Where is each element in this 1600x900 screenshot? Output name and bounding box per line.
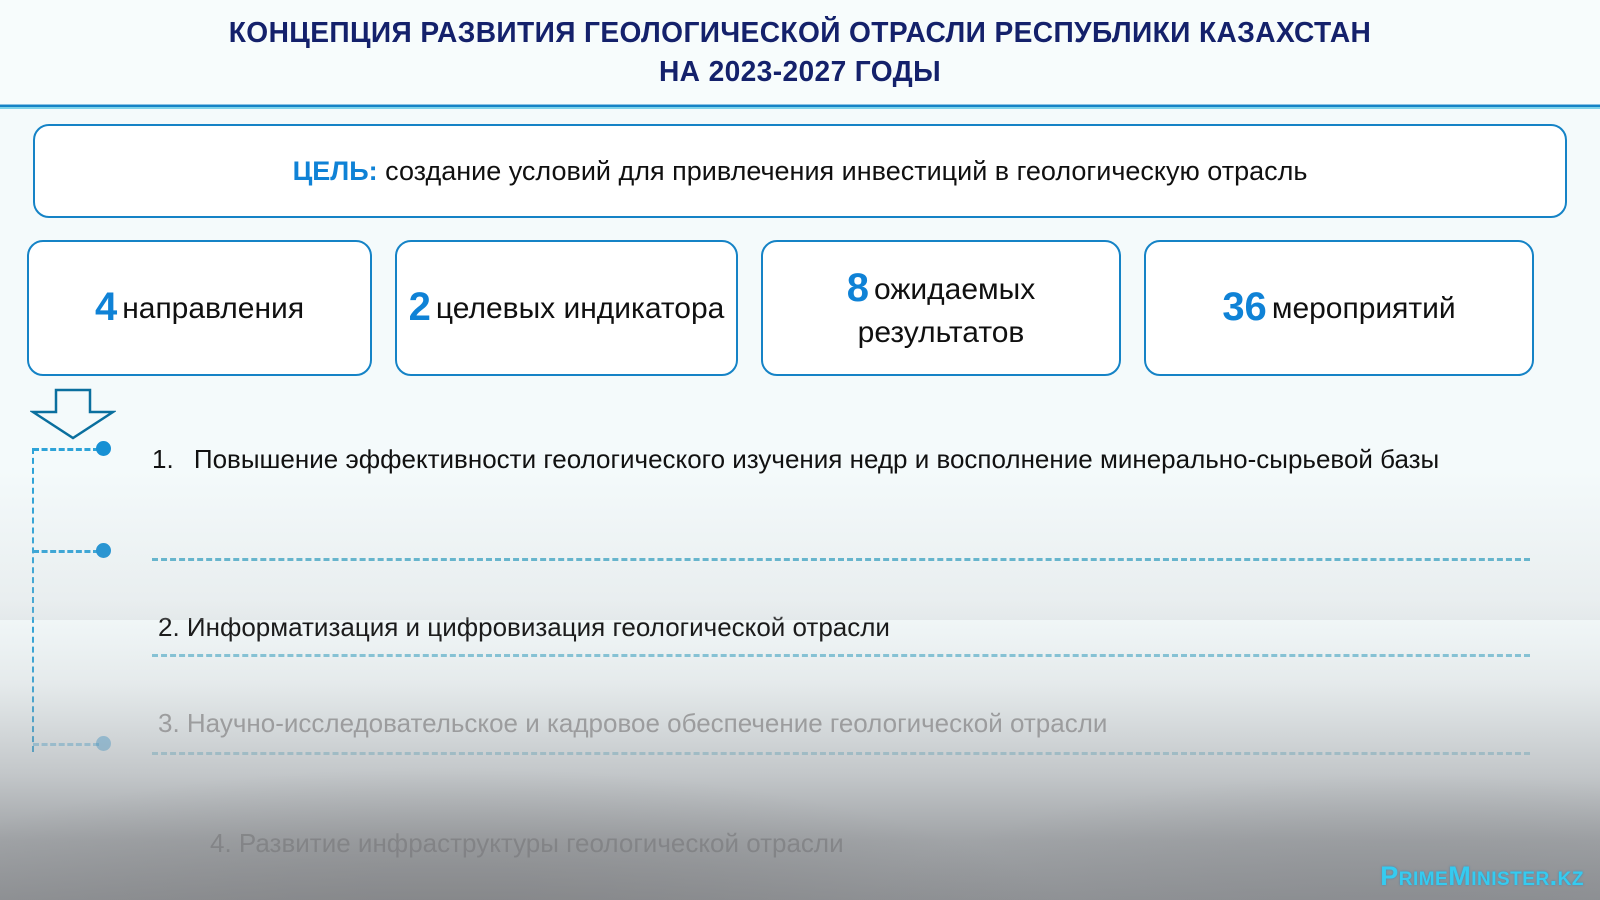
stat-card-indicators-number: 2 bbox=[409, 285, 431, 329]
arrow-down-icon bbox=[30, 388, 116, 440]
goal-label: ЦЕЛЬ: bbox=[293, 156, 378, 186]
slide-root: КОНЦЕПЦИЯ РАЗВИТИЯ ГЕОЛОГИЧЕСКОЙ ОТРАСЛИ… bbox=[0, 0, 1600, 900]
stat-card-results-number: 8 bbox=[847, 266, 869, 310]
header-divider bbox=[0, 104, 1600, 109]
stat-card-results[interactable]: 8ожидаемых результатов bbox=[761, 240, 1121, 376]
stat-card-indicators-content: 2целевых индикатора bbox=[409, 282, 725, 333]
timeline-dot-2 bbox=[96, 543, 111, 558]
goal-box: ЦЕЛЬ: создание условий для привлечения и… bbox=[33, 124, 1567, 218]
direction-separator-2 bbox=[152, 654, 1530, 657]
direction-separator-1 bbox=[152, 558, 1530, 561]
page-title-line2: НА 2023-2027 ГОДЫ bbox=[24, 53, 1576, 92]
stat-card-measures-label: мероприятий bbox=[1272, 292, 1456, 325]
direction-item-1[interactable]: 1. Повышение эффективности геологическог… bbox=[152, 442, 1530, 477]
direction-item-3[interactable]: 3. Научно-исследовательское и кадровое о… bbox=[158, 706, 1536, 741]
stat-card-measures-number: 36 bbox=[1222, 285, 1267, 329]
stat-card-measures[interactable]: 36мероприятий bbox=[1144, 240, 1534, 376]
page-title: КОНЦЕПЦИЯ РАЗВИТИЯ ГЕОЛОГИЧЕСКОЙ ОТРАСЛИ… bbox=[24, 14, 1576, 92]
stat-card-directions-content: 4направления bbox=[95, 282, 304, 333]
stat-card-results-content: 8ожидаемых результатов bbox=[773, 263, 1109, 353]
stat-card-directions-number: 4 bbox=[95, 285, 117, 329]
stat-card-row: 4направления 2целевых индикатора 8ожидае… bbox=[27, 240, 1573, 376]
stat-card-measures-content: 36мероприятий bbox=[1222, 282, 1455, 333]
page-title-line1: КОНЦЕПЦИЯ РАЗВИТИЯ ГЕОЛОГИЧЕСКОЙ ОТРАСЛИ… bbox=[24, 14, 1576, 53]
goal-body: создание условий для привлечения инвести… bbox=[385, 156, 1307, 186]
primeminister-logo: PrimeMinister.kz bbox=[1380, 861, 1584, 892]
stat-card-results-label: ожидаемых результатов bbox=[858, 273, 1036, 349]
stat-card-directions[interactable]: 4направления bbox=[27, 240, 372, 376]
timeline-branch-3 bbox=[33, 743, 99, 746]
direction-item-4[interactable]: 4. Развитие инфраструктуры геологической… bbox=[210, 826, 1588, 861]
timeline-vertical-line bbox=[32, 448, 34, 752]
goal-text: ЦЕЛЬ: создание условий для привлечения и… bbox=[293, 156, 1308, 187]
timeline-connector bbox=[0, 440, 160, 770]
slide-header: КОНЦЕПЦИЯ РАЗВИТИЯ ГЕОЛОГИЧЕСКОЙ ОТРАСЛИ… bbox=[0, 0, 1600, 106]
stat-card-indicators-label: целевых индикатора bbox=[436, 292, 724, 325]
direction-item-2[interactable]: 2. Информатизация и цифровизация геологи… bbox=[158, 610, 1536, 645]
stat-card-directions-label: направления bbox=[122, 292, 304, 325]
direction-separator-3 bbox=[152, 752, 1530, 755]
timeline-dot-3 bbox=[96, 736, 111, 751]
timeline-dot-1 bbox=[96, 441, 111, 456]
fade-overlay-upper bbox=[0, 470, 1600, 620]
stat-card-indicators[interactable]: 2целевых индикатора bbox=[395, 240, 738, 376]
timeline-branch-2 bbox=[33, 550, 99, 553]
timeline-branch-1 bbox=[33, 448, 99, 451]
